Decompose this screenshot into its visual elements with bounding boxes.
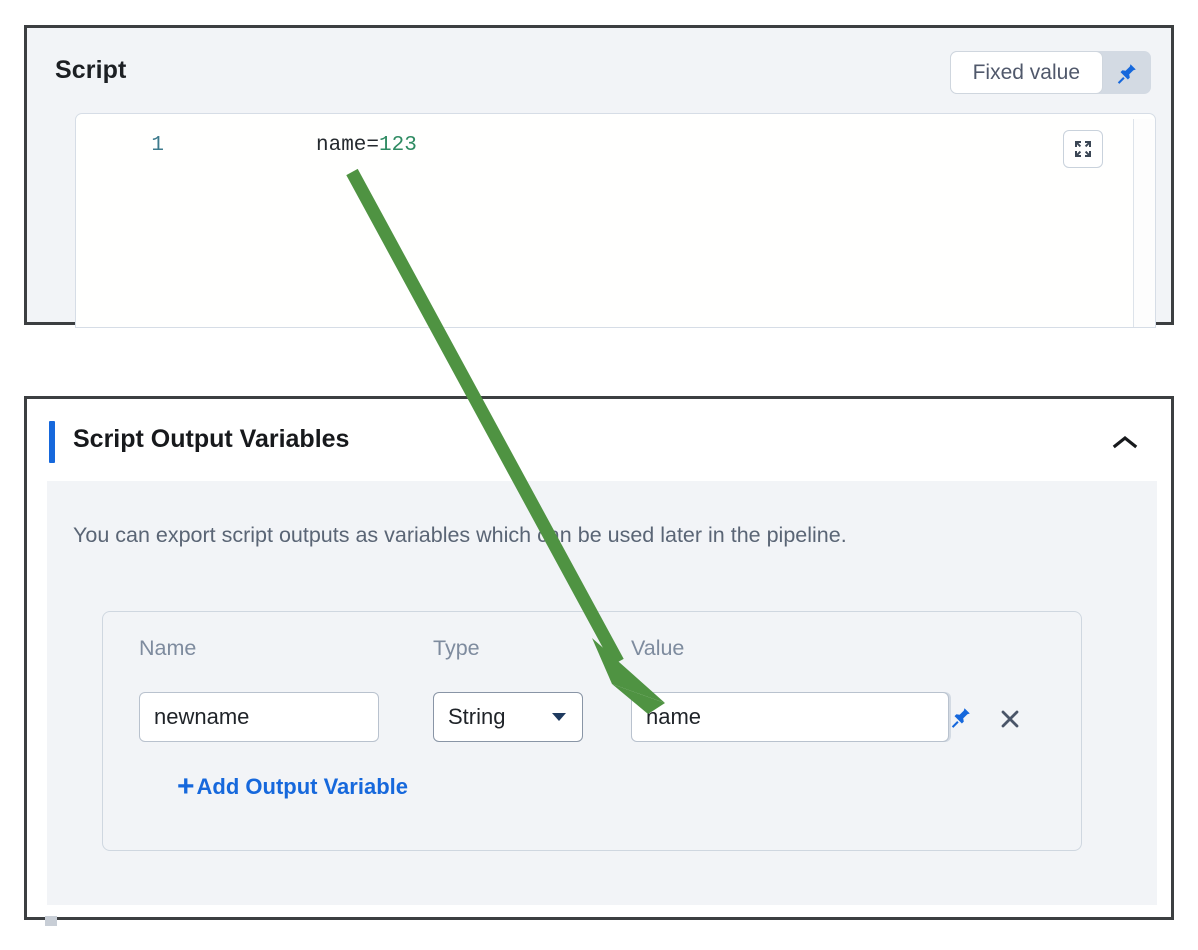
line-number: 1 bbox=[76, 134, 164, 157]
column-header-value: Value bbox=[631, 636, 684, 661]
code-line: 1 name=123 bbox=[76, 130, 1155, 160]
variable-type-value: String bbox=[448, 704, 552, 730]
panel-bottom-fragment bbox=[45, 916, 57, 926]
collapse-section-button[interactable] bbox=[1107, 425, 1143, 459]
page-title: Script bbox=[55, 56, 126, 85]
chevron-up-icon bbox=[1112, 434, 1138, 450]
code-content: name=123 bbox=[316, 134, 417, 157]
output-variables-card: Name Type Value String bbox=[102, 611, 1082, 851]
script-output-variables-body: You can export script outputs as variabl… bbox=[47, 481, 1157, 905]
column-header-type: Type bbox=[433, 636, 480, 661]
add-output-variable-label: Add Output Variable bbox=[197, 774, 408, 800]
fixed-value-control-group: Fixed value bbox=[950, 51, 1151, 94]
table-header-row: Name Type Value bbox=[103, 636, 1081, 670]
script-panel-header: Script Fixed value bbox=[27, 28, 1171, 113]
script-panel: Script Fixed value 1 name=123 bbox=[24, 25, 1174, 325]
editor-scrollbar[interactable] bbox=[1133, 119, 1155, 327]
table-row: String bbox=[103, 692, 1081, 748]
add-output-variable-button[interactable]: + Add Output Variable bbox=[177, 772, 408, 802]
section-title: Script Output Variables bbox=[73, 425, 349, 454]
script-output-variables-header: Script Output Variables bbox=[27, 399, 1171, 481]
script-code-editor[interactable]: 1 name=123 bbox=[75, 113, 1156, 328]
expand-fullscreen-icon bbox=[1073, 139, 1093, 159]
close-x-icon bbox=[998, 707, 1022, 731]
column-header-name: Name bbox=[139, 636, 196, 661]
pin-value-button[interactable] bbox=[949, 692, 973, 742]
code-token-assignment: name= bbox=[316, 134, 379, 157]
plus-icon: + bbox=[177, 772, 195, 802]
fixed-value-button[interactable]: Fixed value bbox=[950, 51, 1103, 94]
script-output-variables-panel: Script Output Variables You can export s… bbox=[24, 396, 1174, 920]
section-description: You can export script outputs as variabl… bbox=[73, 523, 847, 548]
pushpin-icon bbox=[1115, 61, 1139, 85]
variable-type-select[interactable]: String bbox=[433, 692, 583, 742]
chevron-down-icon bbox=[552, 713, 566, 721]
pushpin-icon bbox=[949, 705, 973, 729]
variable-name-input[interactable] bbox=[139, 692, 379, 742]
section-accent-bar bbox=[49, 421, 55, 463]
variable-value-input[interactable] bbox=[631, 692, 949, 742]
expand-editor-button[interactable] bbox=[1063, 130, 1103, 168]
pin-script-button[interactable] bbox=[1103, 51, 1151, 94]
remove-row-button[interactable] bbox=[991, 700, 1029, 738]
variable-value-group bbox=[631, 692, 951, 742]
code-token-value: 123 bbox=[379, 134, 417, 157]
